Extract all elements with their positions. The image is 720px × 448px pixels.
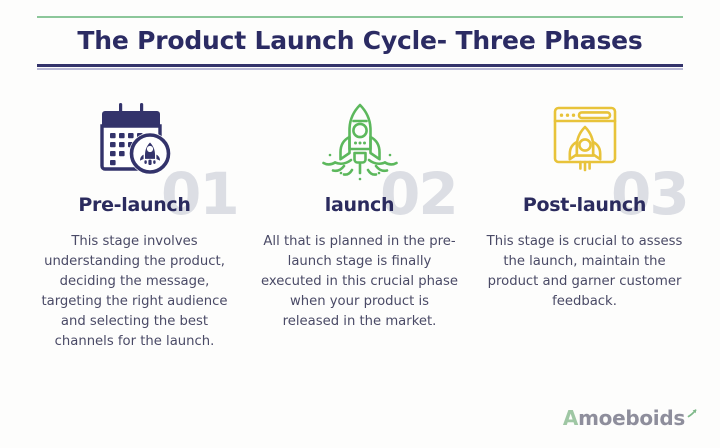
- phase-title: Pre-launch: [78, 194, 190, 216]
- rocket-launch-icon: [247, 96, 472, 188]
- green-arrow-icon: [686, 407, 698, 425]
- phases-container: 01 Pre-launch This stage involves unders…: [22, 96, 698, 352]
- header-bottom-rule: [37, 64, 683, 67]
- header-top-rule: [37, 16, 683, 18]
- phase-title-row: 01 Pre-launch: [22, 188, 247, 222]
- phase-description: All that is planned in the pre-launch st…: [261, 232, 458, 332]
- phase-card-post-launch: 03 Post-launch This stage is crucial to …: [472, 96, 697, 312]
- phase-description: This stage involves understanding the pr…: [36, 232, 233, 352]
- logo-wordmark: moeboids: [578, 406, 685, 430]
- logo-initial: A: [563, 406, 578, 430]
- phase-title-row: 03 Post-launch: [472, 188, 697, 222]
- phase-description: This stage is crucial to assess the laun…: [486, 232, 683, 312]
- phase-card-pre-launch: 01 Pre-launch This stage involves unders…: [22, 96, 247, 352]
- browser-rocket-icon: [472, 96, 697, 188]
- phase-title: Post-launch: [523, 194, 646, 216]
- phase-title: launch: [325, 194, 394, 216]
- phase-card-launch: 02 launch All that is planned in the pre…: [247, 96, 472, 332]
- amoeboids-logo: A moeboids: [563, 406, 698, 430]
- infographic-root: The Product Launch Cycle- Three Phases: [0, 0, 720, 448]
- calendar-rocket-icon: [22, 96, 247, 188]
- phase-title-row: 02 launch: [247, 188, 472, 222]
- page-title: The Product Launch Cycle- Three Phases: [0, 26, 720, 55]
- header-bottom-rule-accent: [37, 68, 683, 70]
